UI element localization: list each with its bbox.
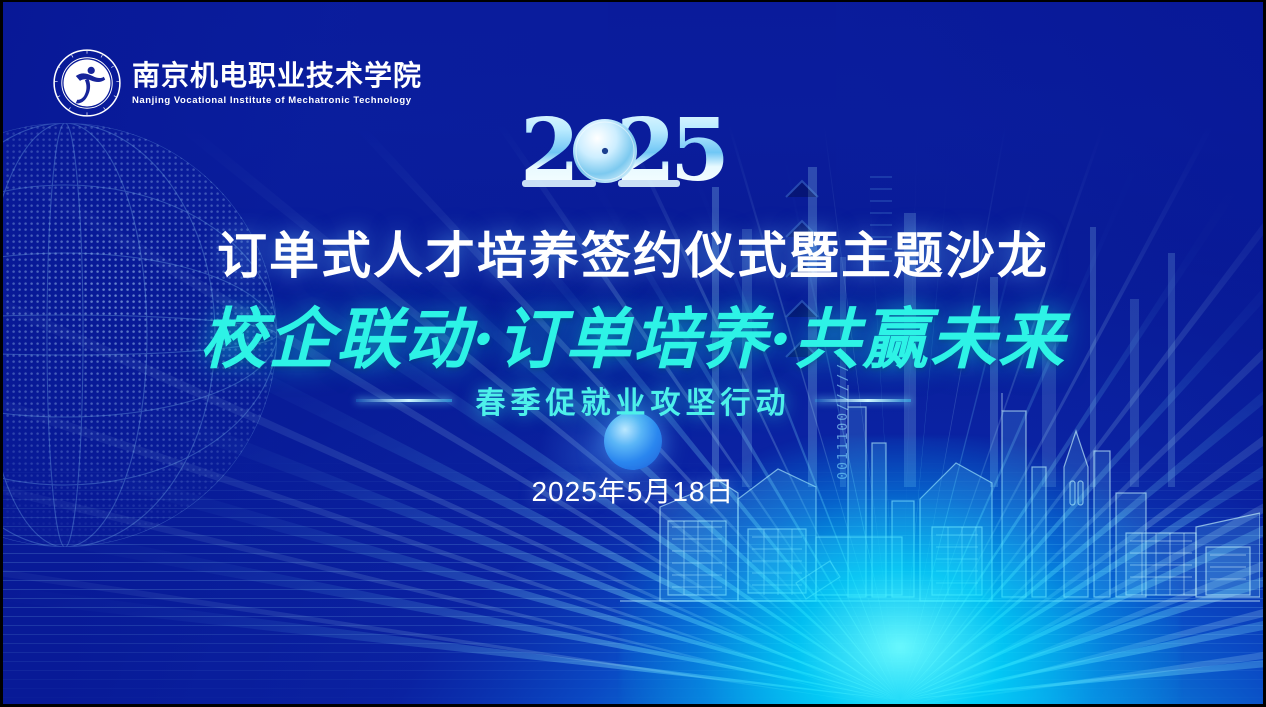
divider-right — [815, 399, 911, 402]
divider-left — [356, 399, 452, 402]
action-row: 春季促就业攻坚行动 — [0, 378, 1266, 422]
action-line: 春季促就业攻坚行动 — [476, 378, 791, 422]
poster-canvas: 0011100////// — [0, 0, 1266, 707]
year-graphic: 2 2 5 — [0, 104, 1266, 200]
year-2025-icon: 2 2 5 — [518, 104, 748, 200]
slogan: 校企联动·订单培养·共赢未来 — [0, 286, 1266, 382]
event-date: 2025年5月18日 — [0, 470, 1266, 510]
logo-name-cn: 南京机电职业技术学院 — [132, 60, 422, 91]
main-title: 订单式人才培养签约仪式暨主题沙龙 — [0, 216, 1266, 288]
